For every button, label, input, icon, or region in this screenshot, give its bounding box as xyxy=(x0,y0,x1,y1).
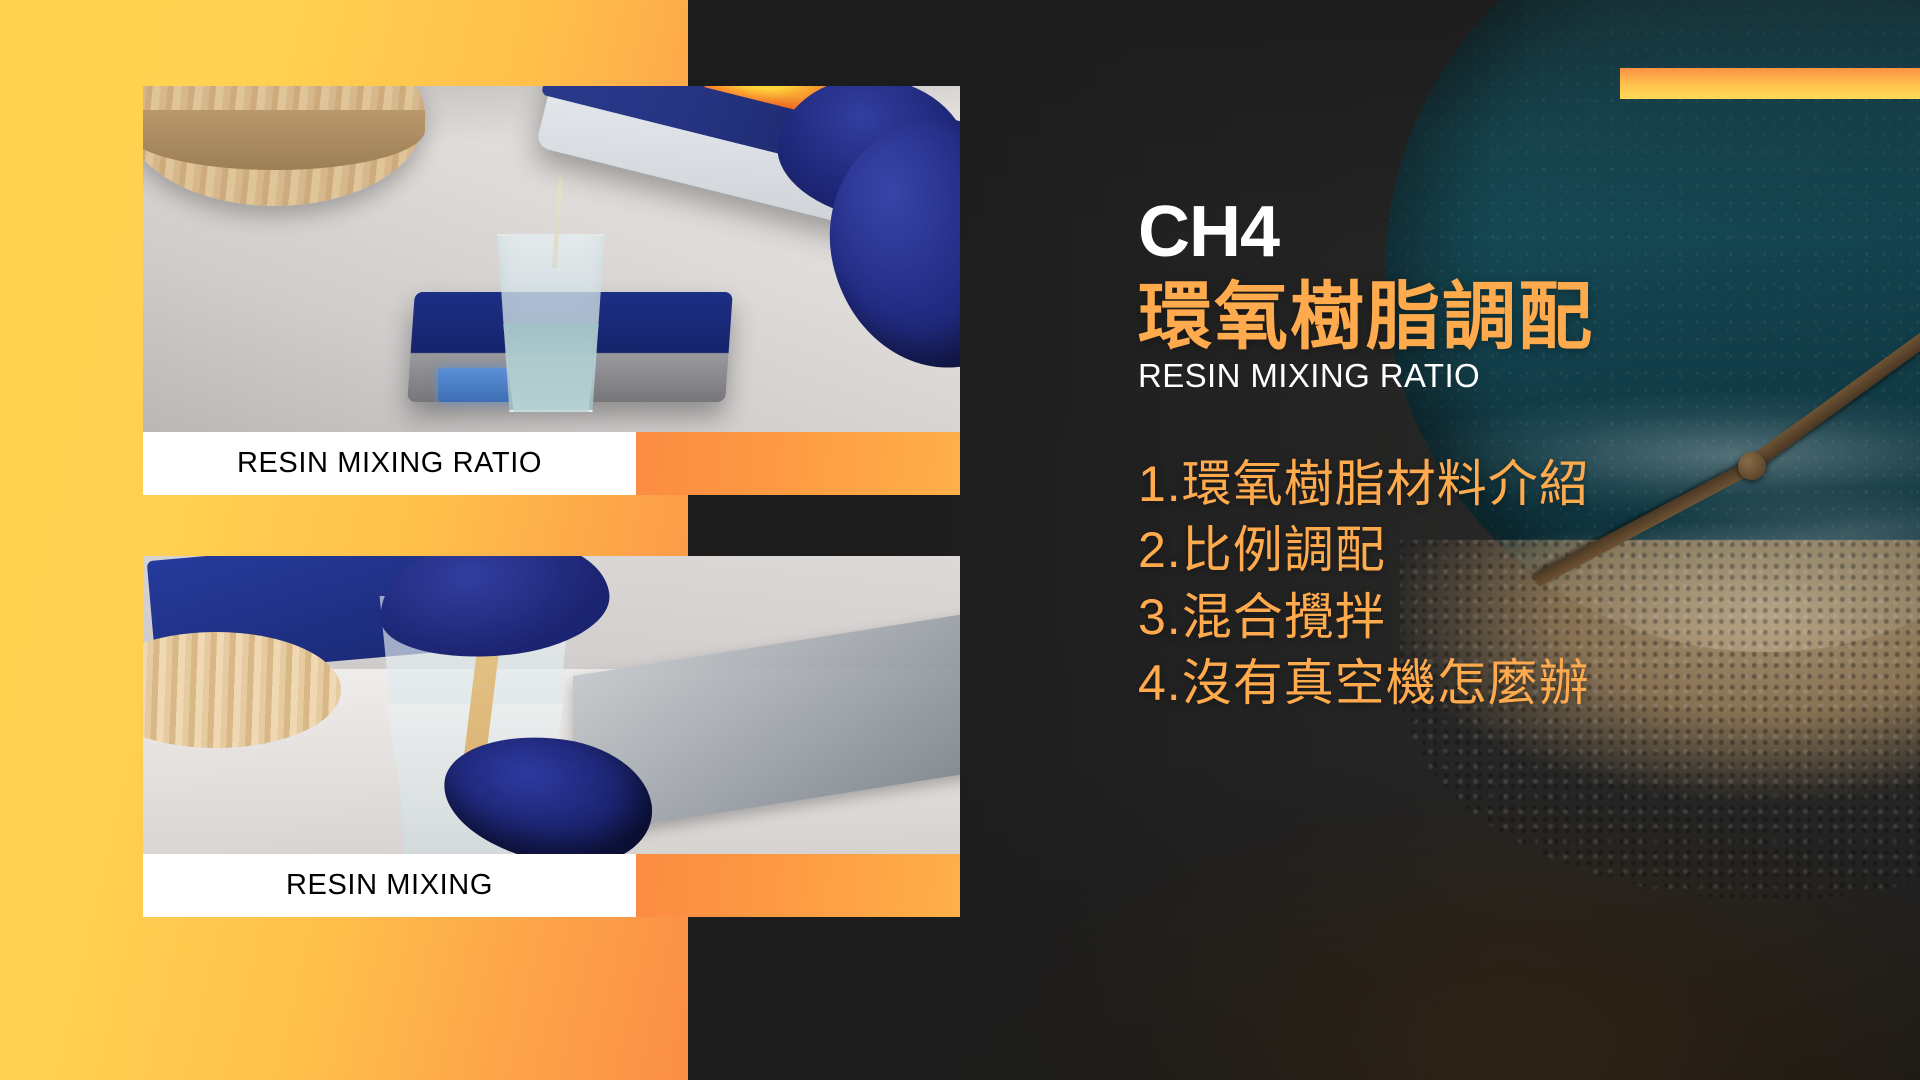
caption-white-box-1: RESIN MIXING RATIO xyxy=(143,432,636,495)
slide-canvas: RESIN MIXING RATIO RESIN MIXING CH4 環氧樹脂… xyxy=(0,0,1920,1080)
topic-list: 1.環氧樹脂材料介紹 2.比例調配 3.混合攪拌 4.沒有真空機怎麼辦 xyxy=(1138,451,1898,717)
photo-resin-mixing-ratio xyxy=(143,86,960,432)
caption-bar-2: RESIN MIXING xyxy=(143,854,960,917)
caption-orange-tail-2 xyxy=(636,854,960,917)
topic-item-1: 1.環氧樹脂材料介紹 xyxy=(1138,451,1898,518)
page-title-chinese: 環氧樹脂調配 xyxy=(1138,276,1898,359)
page-subtitle-english: RESIN MIXING RATIO xyxy=(1138,357,1898,395)
resin-liquid-in-cup xyxy=(499,324,603,412)
topic-item-4: 4.沒有真空機怎麼辦 xyxy=(1138,650,1898,717)
caption-label-1: RESIN MIXING RATIO xyxy=(237,447,542,480)
caption-orange-tail-1 xyxy=(636,432,960,495)
top-right-accent-bar xyxy=(1620,68,1920,99)
caption-bar-1: RESIN MIXING RATIO xyxy=(143,432,960,495)
photo-card-2 xyxy=(143,556,960,854)
caption-white-box-2: RESIN MIXING xyxy=(143,854,636,917)
photo-resin-mixing xyxy=(143,556,960,854)
caption-label-2: RESIN MIXING xyxy=(286,869,493,902)
topic-item-3: 3.混合攪拌 xyxy=(1138,584,1898,651)
title-text-block: CH4 環氧樹脂調配 RESIN MIXING RATIO 1.環氧樹脂材料介紹… xyxy=(1138,196,1898,717)
photo-card-1 xyxy=(143,86,960,432)
chapter-label: CH4 xyxy=(1138,196,1898,268)
scale-lcd-display xyxy=(438,368,510,402)
topic-item-2: 2.比例調配 xyxy=(1138,517,1898,584)
